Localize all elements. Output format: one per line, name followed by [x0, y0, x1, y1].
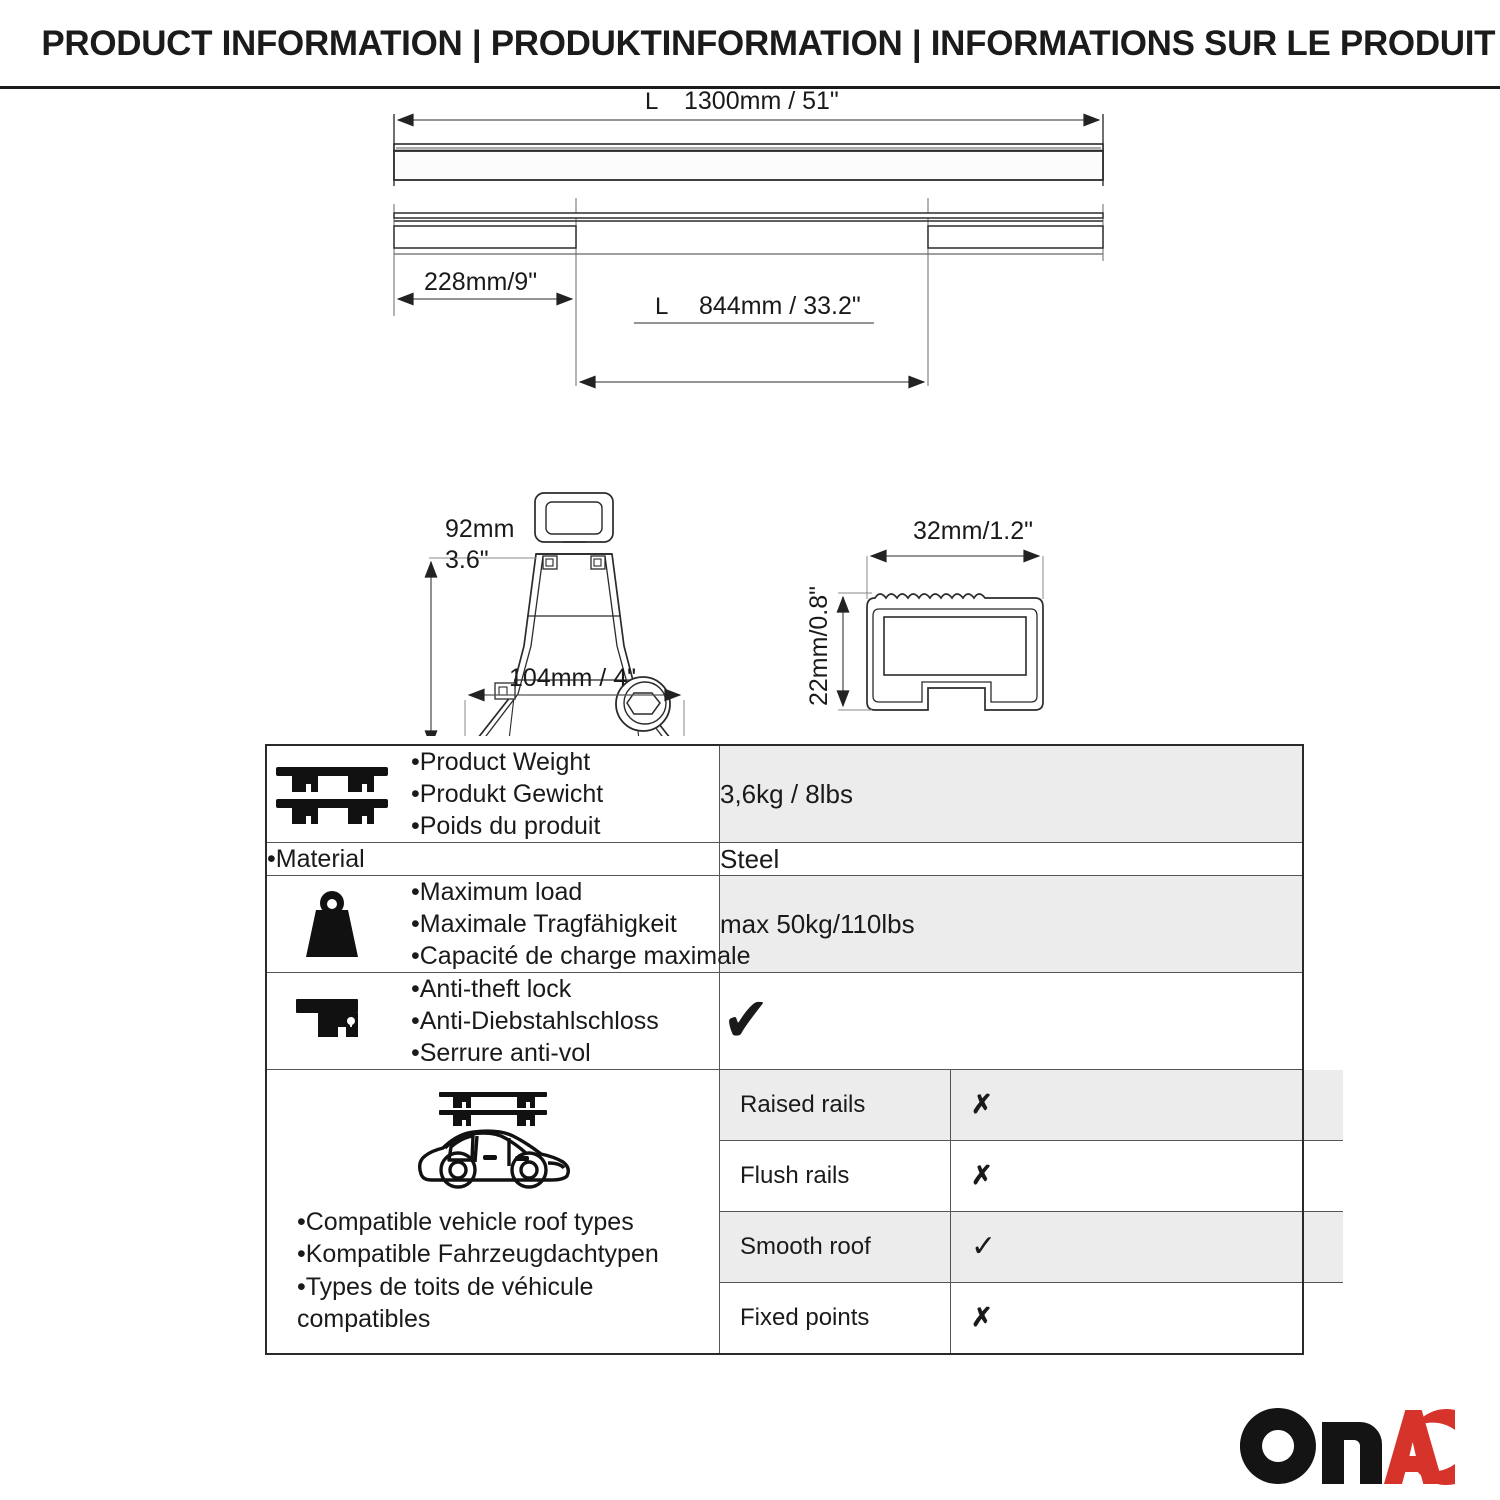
spec-label-de: •Kompatible Fahrzeugdachtypen: [297, 1238, 719, 1271]
spec-label-fr: •Types de toits de véhicule compatibles: [297, 1271, 719, 1336]
cross-icon: ✗: [971, 1160, 993, 1190]
check-icon: ✔: [723, 990, 770, 1052]
spec-labels-weight: •Product Weight •Produkt Gewicht •Poids …: [411, 746, 603, 842]
spec-labels-maxload: •Maximum load •Maximale Tragfähigkeit •C…: [411, 876, 750, 972]
spec-value-lock: ✔: [720, 973, 1304, 1070]
spec-label-fr: •Serrure anti-vol: [411, 1037, 659, 1069]
car-with-roof-bars-icon: [267, 1088, 719, 1200]
product-spec-table: •Product Weight •Produkt Gewicht •Poids …: [265, 744, 1304, 1355]
drawing-canvas: L 1300mm / 51" 228mm/9" L 844mm / 33.2": [0, 86, 1500, 736]
page-header: PRODUCT INFORMATION | PRODUKTINFORMATION…: [0, 0, 1500, 86]
spec-label-en: •Compatible vehicle roof types: [297, 1206, 719, 1239]
spec-label-de: •Maximale Tragfähigkeit: [411, 908, 750, 940]
roof-type-label: Fixed points: [720, 1283, 951, 1354]
foot-width-value: 104mm / 4": [509, 664, 636, 692]
roof-type-mark: ✗: [951, 1141, 1344, 1212]
spec-value-weight: 3,6kg / 8lbs: [720, 745, 1304, 843]
page-title: PRODUCT INFORMATION | PRODUKTINFORMATION…: [0, 23, 1495, 64]
table-row: •Compatible vehicle roof types •Kompatib…: [266, 1070, 1303, 1355]
roof-type-row-flush-rails: Flush rails ✗: [720, 1141, 1343, 1212]
foot-height-line1: 92mm: [445, 515, 514, 543]
lock-icon: [267, 993, 397, 1049]
profile-height-value: 22mm/0.8": [805, 586, 833, 706]
spec-label-en: •Product Weight: [411, 746, 603, 778]
spec-label-en: •Anti-theft lock: [411, 973, 659, 1005]
roof-types-table: Raised rails ✗ Flush rails ✗: [720, 1070, 1343, 1353]
spec-label-cell-compatible: •Compatible vehicle roof types •Kompatib…: [266, 1070, 720, 1355]
roof-type-label: Flush rails: [720, 1141, 951, 1212]
bar-length-axis-label: L: [645, 88, 658, 115]
roof-type-label: Raised rails: [720, 1070, 951, 1141]
spec-label-cell-maxload: •Maximum load •Maximale Tragfähigkeit •C…: [266, 876, 720, 973]
spec-label-cell-weight: •Product Weight •Produkt Gewicht •Poids …: [266, 745, 720, 843]
spec-labels-lock: •Anti-theft lock •Anti-Diebstahlschloss …: [411, 973, 659, 1069]
spec-value-material: Steel: [720, 843, 1304, 876]
roof-type-row-fixed-points: Fixed points ✗: [720, 1283, 1343, 1354]
spec-value-maxload: max 50kg/110lbs: [720, 876, 1304, 973]
technical-drawing: L 1300mm / 51" 228mm/9" L 844mm / 33.2": [0, 86, 1500, 736]
spec-label-cell-material: •Material: [266, 843, 720, 876]
foot-height-line2: 3.6": [445, 546, 489, 574]
spec-label-de: •Produkt Gewicht: [411, 778, 603, 810]
spec-label-fr: •Poids du produit: [411, 810, 603, 842]
roof-type-row-smooth-roof: Smooth roof ✓: [720, 1212, 1343, 1283]
span-axis-label: L: [655, 293, 668, 320]
omac-logo-mark: [1240, 1408, 1470, 1486]
table-row: •Anti-theft lock •Anti-Diebstahlschloss …: [266, 973, 1303, 1070]
logo-letter-o: [1240, 1408, 1316, 1484]
cross-icon: ✗: [971, 1302, 993, 1332]
span-value: 844mm / 33.2": [699, 292, 861, 320]
table-row: •Maximum load •Maximale Tragfähigkeit •C…: [266, 876, 1303, 973]
roof-type-row-raised-rails: Raised rails ✗: [720, 1070, 1343, 1141]
roof-type-mark: ✗: [951, 1070, 1344, 1141]
spec-labels-compatible: •Compatible vehicle roof types •Kompatib…: [267, 1206, 719, 1336]
roof-type-label: Smooth roof: [720, 1212, 951, 1283]
spec-label-cell-lock: •Anti-theft lock •Anti-Diebstahlschloss …: [266, 973, 720, 1070]
roof-type-mark: ✗: [951, 1283, 1344, 1354]
logo-letter-m: [1322, 1422, 1382, 1484]
roof-type-mark: ✓: [951, 1212, 1344, 1283]
spec-label-fr: •Capacité de charge maximale: [411, 940, 750, 972]
table-row: •Product Weight •Produkt Gewicht •Poids …: [266, 745, 1303, 843]
omac-logo: [1240, 1408, 1470, 1486]
roof-types-cell: Raised rails ✗ Flush rails ✗: [720, 1070, 1304, 1355]
weight-icon: [267, 889, 397, 959]
bar-length-value: 1300mm / 51": [684, 87, 839, 115]
spec-label-de: •Anti-Diebstahlschloss: [411, 1005, 659, 1037]
spec-labels-material: •Material: [267, 843, 719, 875]
spec-label-en: •Material: [267, 843, 719, 875]
profile-width-value: 32mm/1.2": [913, 517, 1033, 545]
table-row: •Material Steel: [266, 843, 1303, 876]
spec-label-en: •Maximum load: [411, 876, 750, 908]
crossbars-icon: [267, 763, 397, 825]
cross-icon: ✗: [971, 1089, 993, 1119]
foot-offset-value: 228mm/9": [424, 268, 537, 296]
check-icon: ✓: [971, 1230, 996, 1263]
